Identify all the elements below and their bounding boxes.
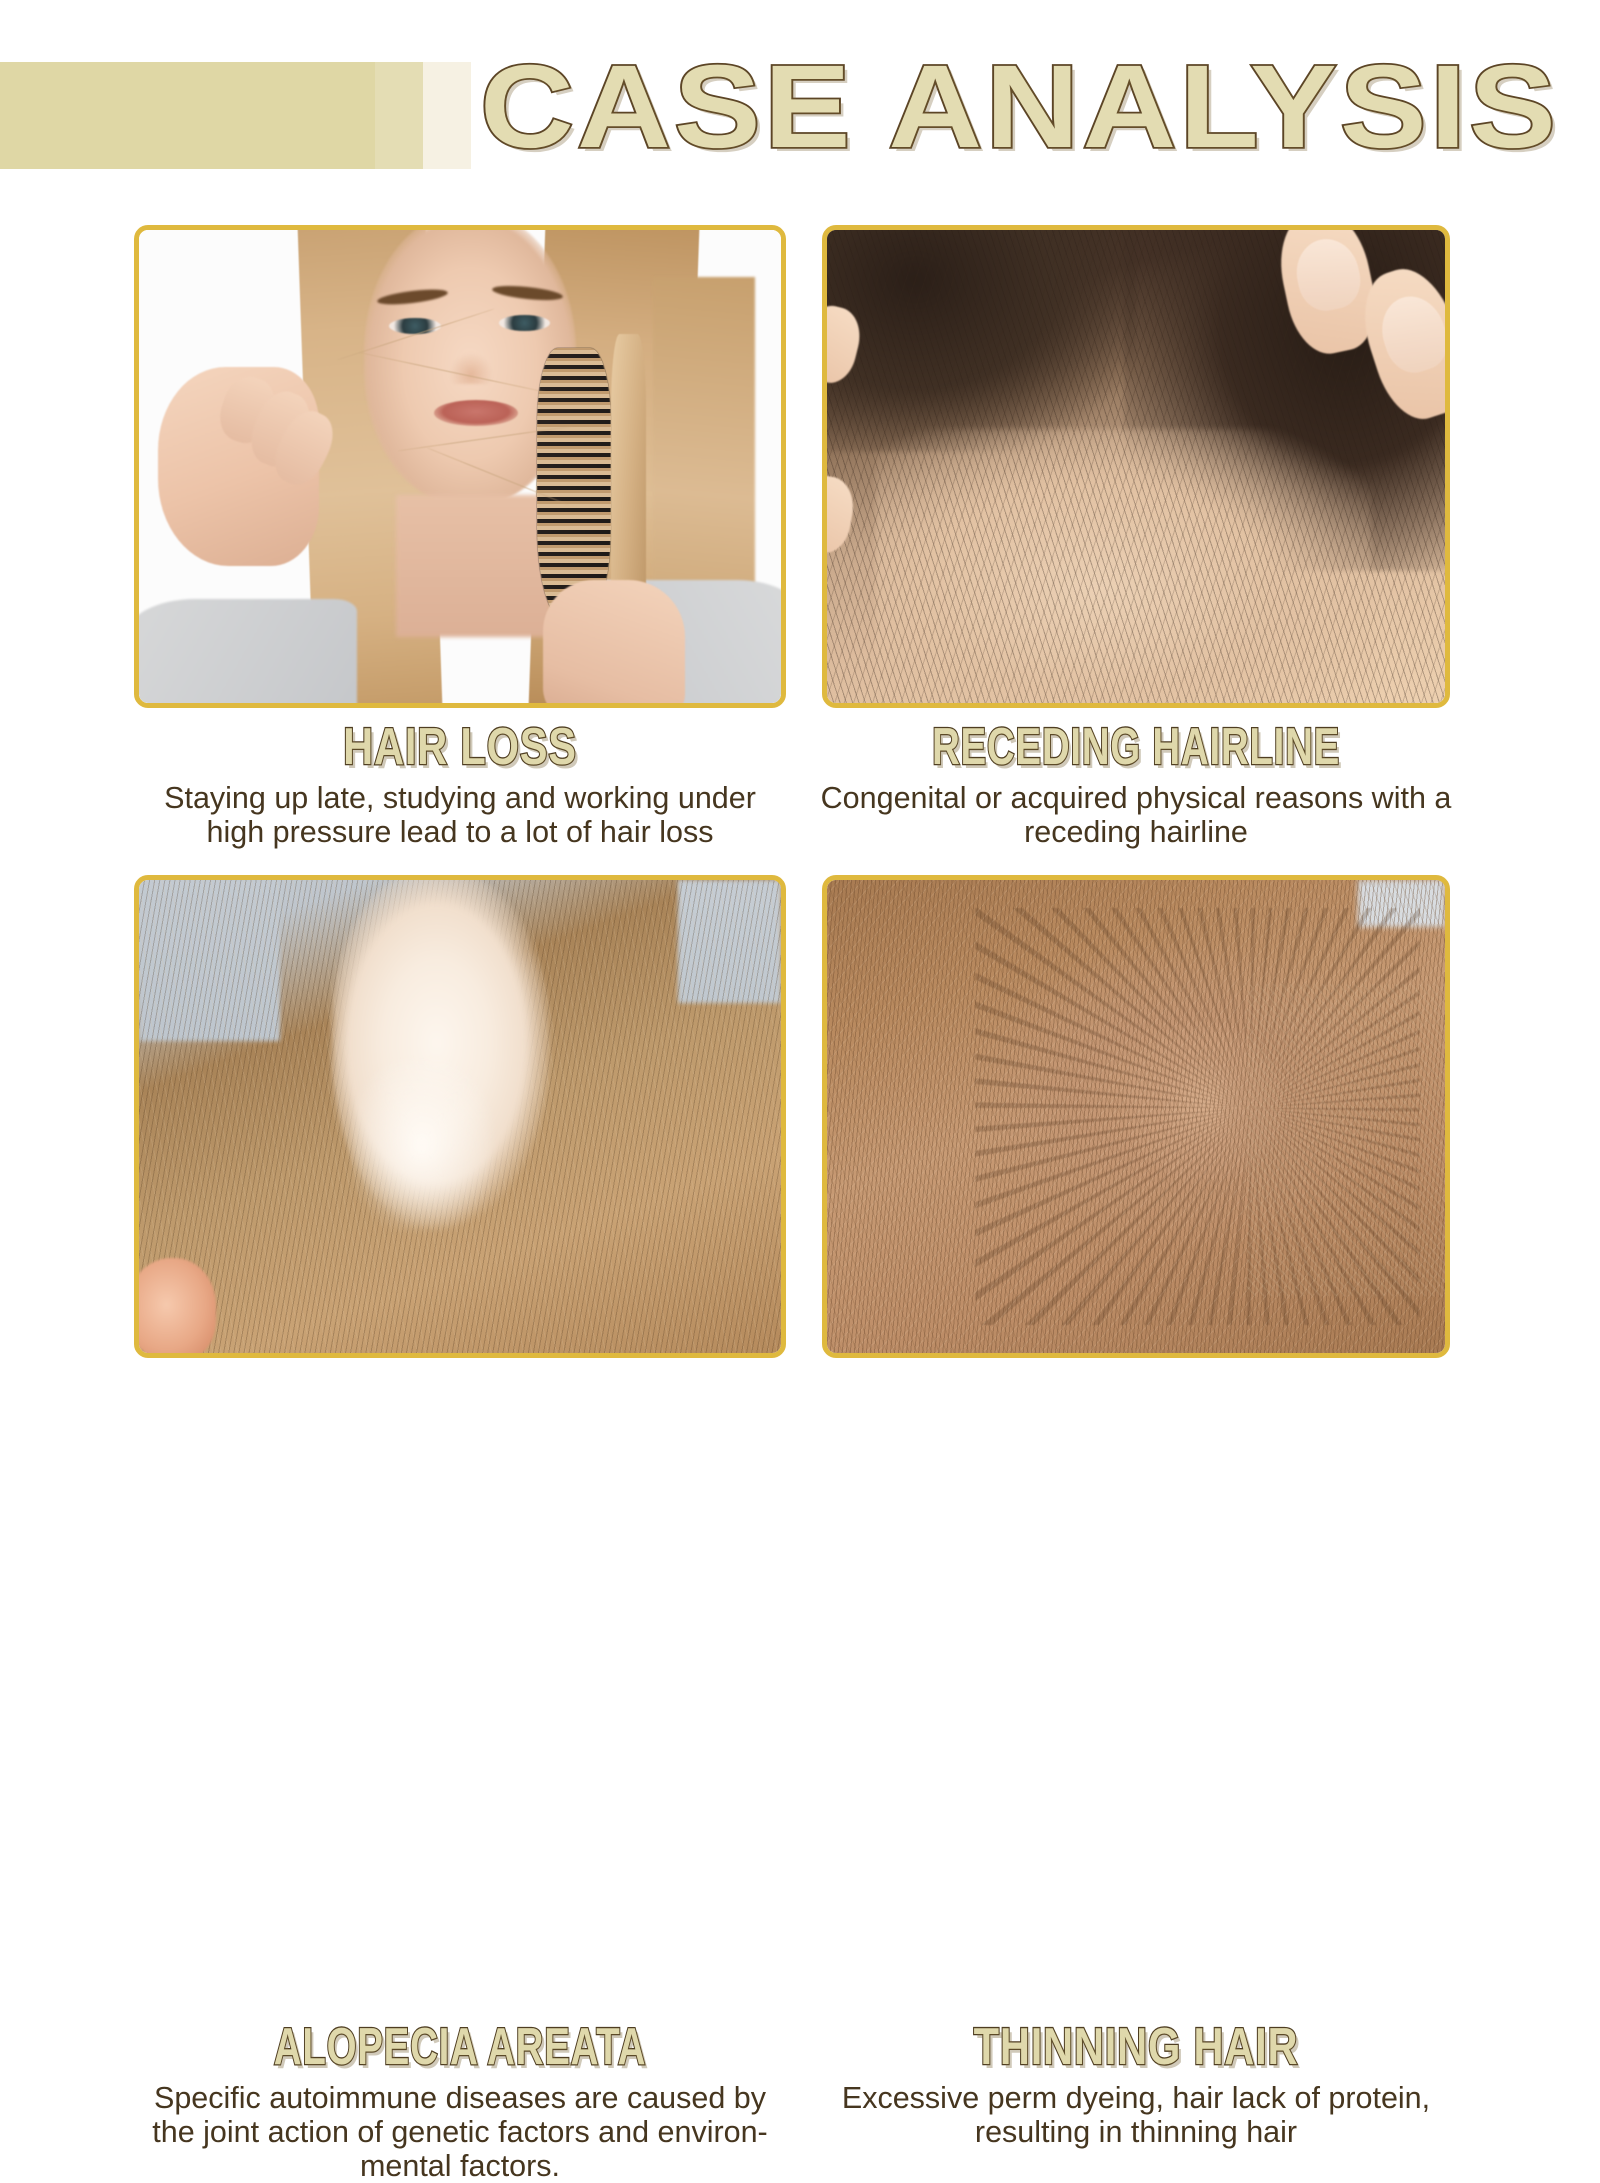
photo-frame	[822, 225, 1450, 708]
page-header: CASE ANALYSIS	[0, 0, 1600, 200]
card-heading: THINNING HAIR	[861, 2020, 1411, 2075]
card-heading: HAIR LOSS	[175, 720, 745, 775]
banner-segment-1	[0, 62, 375, 169]
caption-block: THINNING HAIR Excessive perm dyeing, hai…	[792, 2020, 1480, 2149]
case-card-grid: HAIR LOSS Staying up late, studying and …	[0, 200, 1600, 1600]
banner-segment-3	[423, 62, 471, 169]
photo-frame	[134, 875, 786, 1358]
caption-block: RECEDING HAIRLINE Congenital or acquired…	[792, 720, 1480, 849]
photo-receding-hairline	[827, 230, 1445, 703]
header-banner	[0, 62, 471, 169]
case-card-hair-loss: HAIR LOSS Staying up late, studying and …	[134, 225, 786, 708]
card-body-text: Excessive perm dyeing, hair lack of prot…	[792, 2081, 1480, 2149]
case-card-receding-hairline: RECEDING HAIRLINE Congenital or acquired…	[822, 225, 1450, 708]
card-body-text: Specific autoimmune diseases are caused …	[104, 2081, 816, 2183]
card-heading: ALOPECIA AREATA	[197, 2020, 724, 2075]
caption-block: HAIR LOSS Staying up late, studying and …	[104, 720, 816, 849]
photo-frame	[822, 875, 1450, 1358]
banner-segment-2	[375, 62, 423, 169]
card-heading: RECEDING HAIRLINE	[881, 720, 1390, 775]
case-card-thinning-hair: THINNING HAIR Excessive perm dyeing, hai…	[822, 875, 1450, 1358]
card-body-text: Congenital or acquired physical reasons …	[792, 781, 1480, 849]
photo-frame	[134, 225, 786, 708]
photo-hair-loss	[139, 230, 781, 703]
photo-thinning-hair	[827, 880, 1445, 1353]
case-card-alopecia-areata: ALOPECIA AREATA Specific autoimmune dise…	[134, 875, 786, 1358]
page-title: CASE ANALYSIS	[480, 44, 1470, 169]
caption-block: ALOPECIA AREATA Specific autoimmune dise…	[104, 2020, 816, 2183]
card-body-text: Staying up late, studying and working un…	[104, 781, 816, 849]
photo-alopecia-areata	[139, 880, 781, 1353]
